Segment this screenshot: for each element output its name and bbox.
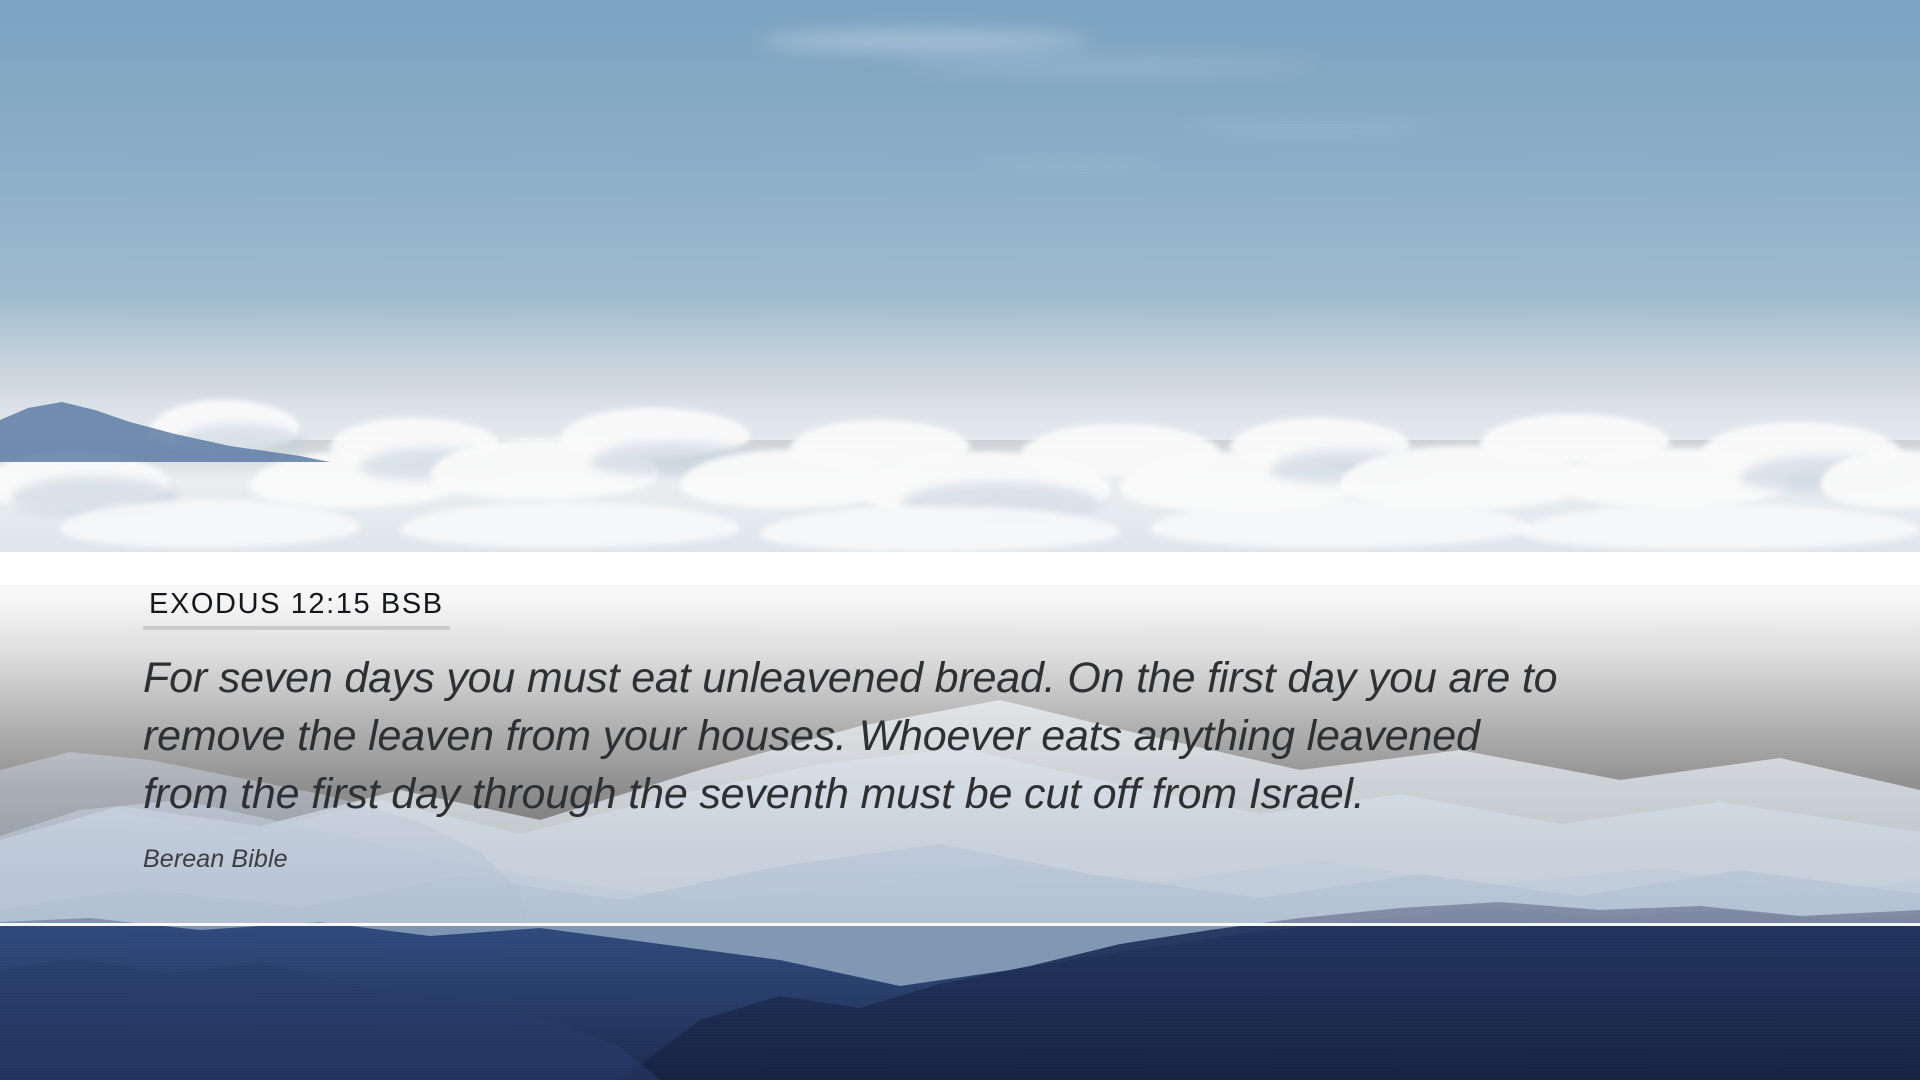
verse-line: from the first day through the seventh m…	[143, 765, 1843, 823]
foreground-ridge-silhouette	[0, 900, 1920, 1080]
verse-reference-underline	[143, 626, 450, 630]
overlay-bottom-rule	[0, 923, 1920, 926]
verse-content: Exodus 12:15 BSB For seven days you must…	[143, 588, 1843, 874]
verse-reference-text: Exodus 12:15 BSB	[143, 588, 450, 626]
verse-attribution: Berean Bible	[143, 845, 1843, 874]
verse-image-canvas: Exodus 12:15 BSB For seven days you must…	[0, 0, 1920, 1080]
cloud-wisp	[900, 58, 1320, 74]
cloud-wisp	[980, 160, 1160, 170]
verse-body-text: For seven days you must eat unleavened b…	[143, 649, 1843, 823]
verse-line: remove the leaven from your houses. Whoe…	[143, 707, 1843, 765]
cloud-wisp	[1180, 120, 1440, 134]
verse-reference-heading: Exodus 12:15 BSB	[143, 588, 450, 630]
cloud-wisp	[760, 30, 1090, 52]
overlay-top-rule	[0, 552, 1920, 554]
foreground-ridge-group	[0, 900, 1920, 1080]
verse-line: For seven days you must eat unleavened b…	[143, 649, 1843, 707]
verse-overlay-band: Exodus 12:15 BSB For seven days you must…	[0, 552, 1920, 926]
